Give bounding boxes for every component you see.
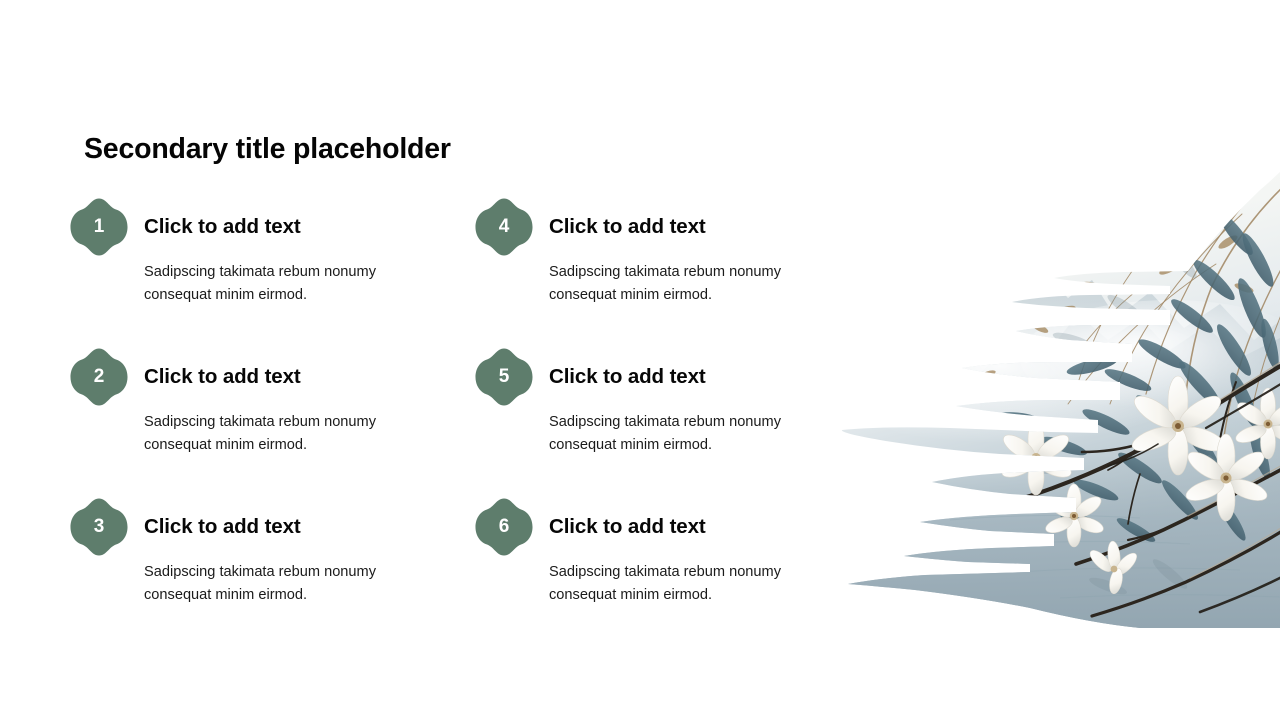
list-item[interactable]: 1 Click to add text Sadipscing takimata … [68,196,473,346]
item-body[interactable]: Sadipscing takimata rebum nonumy consequ… [144,561,429,606]
list-item[interactable]: 2 Click to add text Sadipscing takimata … [68,346,473,496]
number-badge: 2 [68,346,130,408]
number-badge: 3 [68,496,130,558]
number-badge: 6 [473,496,535,558]
item-body[interactable]: Sadipscing takimata rebum nonumy consequ… [549,561,834,606]
number-badge: 1 [68,196,130,258]
number-badge: 5 [473,346,535,408]
badge-number: 2 [68,346,130,408]
list-item[interactable]: 4 Click to add text Sadipscing takimata … [473,196,838,346]
item-heading[interactable]: Click to add text [144,215,301,239]
badge-number: 5 [473,346,535,408]
item-body[interactable]: Sadipscing takimata rebum nonumy consequ… [144,261,429,306]
badge-number: 4 [473,196,535,258]
number-badge: 4 [473,196,535,258]
badge-number: 3 [68,496,130,558]
badge-number: 1 [68,196,130,258]
item-heading[interactable]: Click to add text [549,215,706,239]
slide-canvas: Secondary title placeholder 1 Click to a… [0,0,1280,720]
item-body[interactable]: Sadipscing takimata rebum nonumy consequ… [549,411,834,456]
list-item[interactable]: 3 Click to add text Sadipscing takimata … [68,496,473,646]
page-title: Secondary title placeholder [84,133,451,166]
item-heading[interactable]: Click to add text [549,515,706,539]
content-items-grid: 1 Click to add text Sadipscing takimata … [68,196,838,646]
item-heading[interactable]: Click to add text [144,515,301,539]
list-item[interactable]: 6 Click to add text Sadipscing takimata … [473,496,838,646]
item-heading[interactable]: Click to add text [549,365,706,389]
badge-number: 6 [473,496,535,558]
item-heading[interactable]: Click to add text [144,365,301,389]
item-body[interactable]: Sadipscing takimata rebum nonumy consequ… [144,411,429,456]
list-item[interactable]: 5 Click to add text Sadipscing takimata … [473,346,838,496]
item-body[interactable]: Sadipscing takimata rebum nonumy consequ… [549,261,834,306]
ink-wash-artwork [840,168,1280,628]
